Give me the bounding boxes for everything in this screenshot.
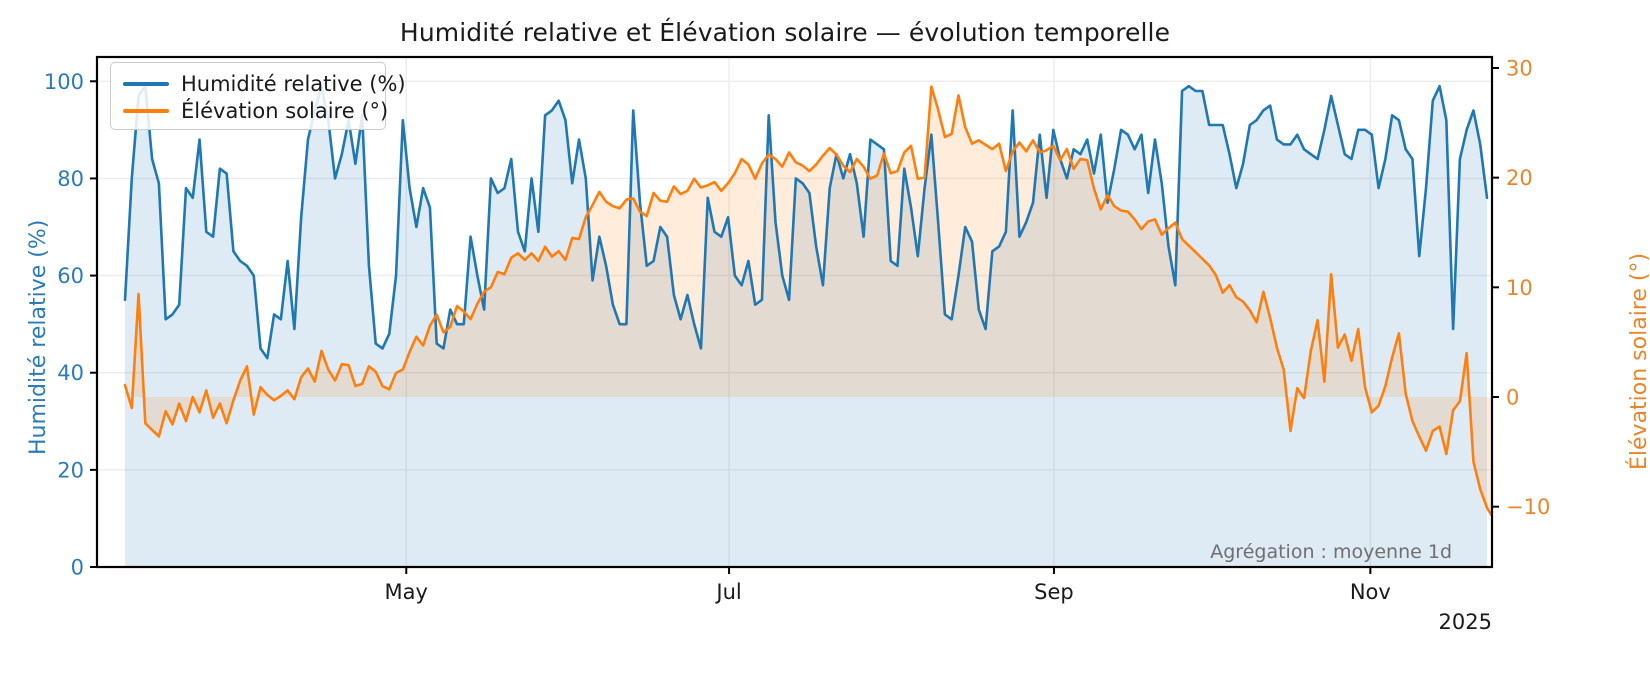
svg-text:30: 30 bbox=[1506, 56, 1533, 80]
legend-label-humidite: Humidité relative (%) bbox=[181, 72, 406, 96]
svg-text:0: 0 bbox=[71, 556, 84, 580]
x-axis-year-label: 2025 bbox=[1439, 610, 1492, 634]
svg-text:40: 40 bbox=[57, 361, 84, 385]
legend-swatch-humidite bbox=[123, 82, 169, 86]
svg-text:10: 10 bbox=[1506, 276, 1533, 300]
svg-text:0: 0 bbox=[1506, 386, 1519, 410]
legend-swatch-elevation bbox=[123, 109, 169, 113]
svg-text:80: 80 bbox=[57, 167, 84, 191]
legend-item-elevation[interactable]: Élévation solaire (°) bbox=[123, 97, 373, 124]
legend-item-humidite[interactable]: Humidité relative (%) bbox=[123, 70, 373, 97]
svg-text:20: 20 bbox=[1506, 166, 1533, 190]
chart-root: Humidité relative et Élévation solaire —… bbox=[0, 0, 1650, 688]
svg-text:−10: −10 bbox=[1506, 495, 1550, 519]
svg-text:Jul: Jul bbox=[714, 580, 741, 604]
svg-text:20: 20 bbox=[57, 458, 84, 482]
aggregation-annotation: Agrégation : moyenne 1d bbox=[1210, 541, 1452, 563]
x-axis-ticks: MayJulSepNov bbox=[385, 567, 1391, 604]
svg-text:100: 100 bbox=[44, 70, 84, 94]
y-axis-right-ticks: −100102030 bbox=[1492, 56, 1550, 519]
svg-text:60: 60 bbox=[57, 264, 84, 288]
svg-text:Nov: Nov bbox=[1350, 580, 1391, 604]
y-axis-left-ticks: 020406080100 bbox=[44, 70, 97, 580]
svg-text:May: May bbox=[385, 580, 428, 604]
chart-legend[interactable]: Humidité relative (%) Élévation solaire … bbox=[110, 62, 386, 130]
legend-label-elevation: Élévation solaire (°) bbox=[181, 99, 388, 123]
svg-text:Sep: Sep bbox=[1034, 580, 1074, 604]
